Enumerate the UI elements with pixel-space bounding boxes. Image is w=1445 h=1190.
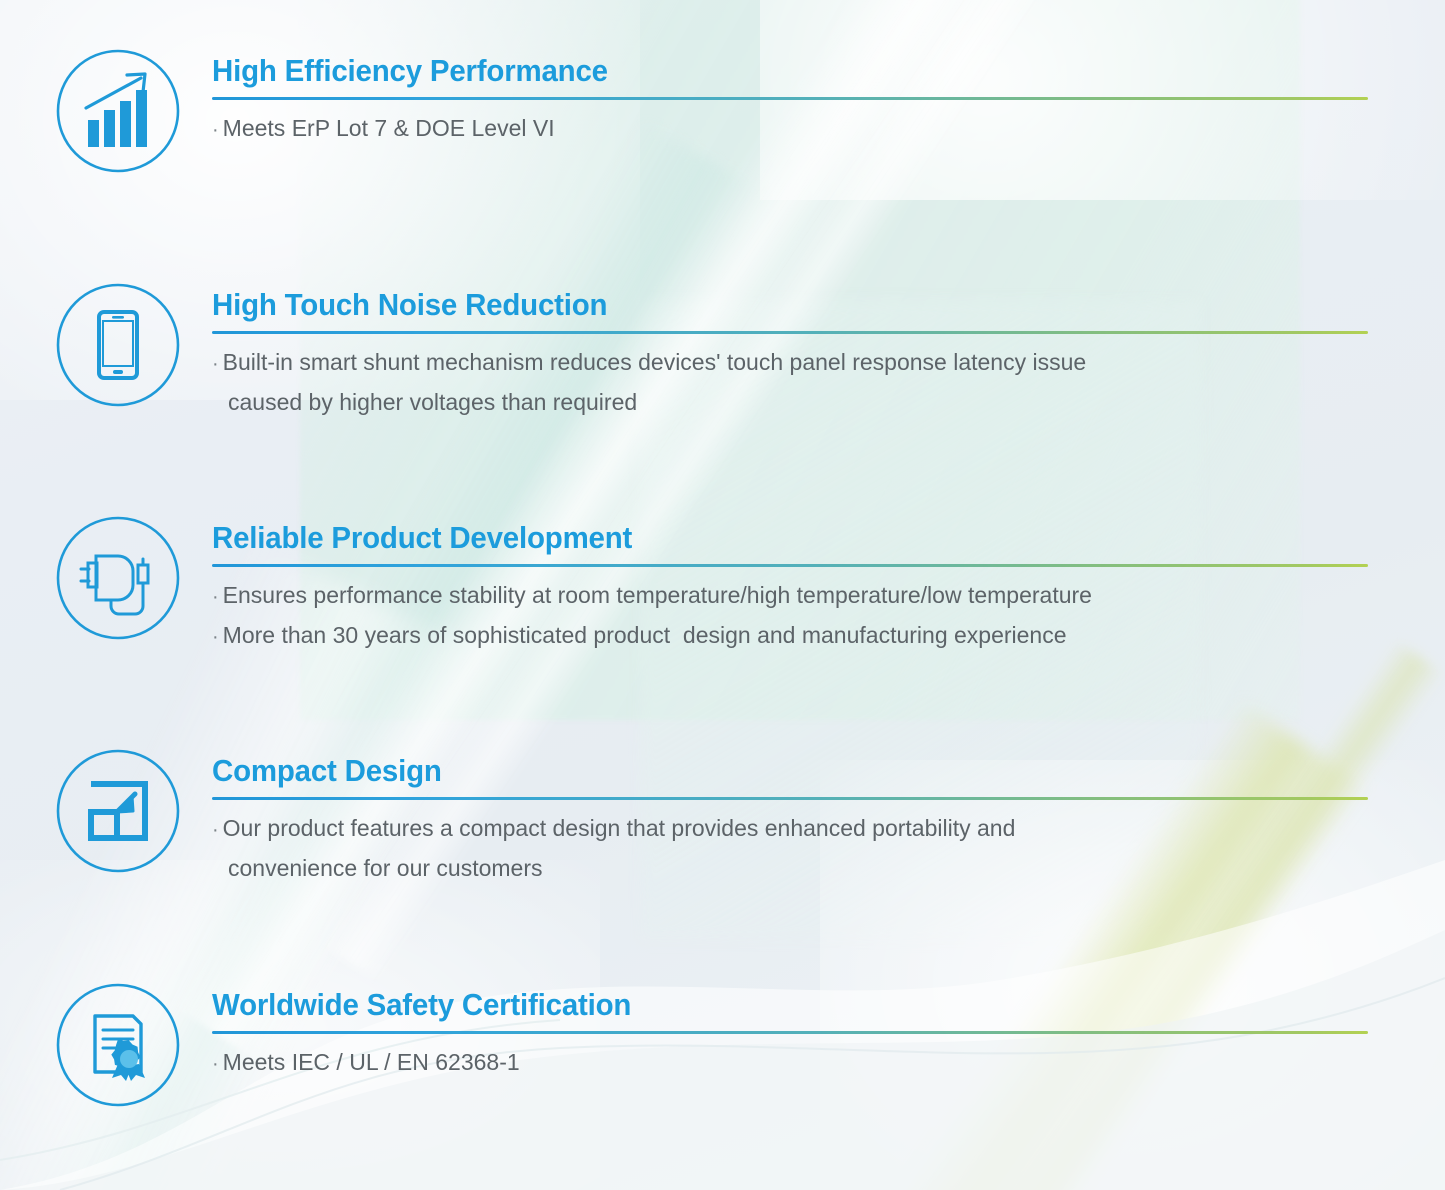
bullet-text: Meets ErP Lot 7 & DOE Level VI <box>223 115 555 141</box>
bullet-line: ·Meets ErP Lot 7 & DOE Level VI <box>212 109 1370 149</box>
power-adapter-icon <box>55 515 181 641</box>
feature-bullets: ·Ensures performance stability at room t… <box>212 576 1370 656</box>
bullet-text: caused by higher voltages than required <box>228 389 637 415</box>
bullet-text: convenience for our customers <box>228 855 543 881</box>
bullet-line: ·Built-in smart shunt mechanism reduces … <box>212 343 1370 383</box>
bullet-marker: · <box>212 353 219 375</box>
bullet-line-continued: caused by higher voltages than required <box>212 383 1370 421</box>
bullet-marker: · <box>212 819 219 841</box>
feature-bullets: ·Meets IEC / UL / EN 62368-1 <box>212 1043 1370 1083</box>
feature-highlights-page: High Efficiency Performance ·Meets ErP L… <box>0 0 1445 1190</box>
bullet-line: ·More than 30 years of sophisticated pro… <box>212 616 1370 656</box>
feature-divider <box>212 797 1368 800</box>
bullet-marker: · <box>212 119 219 141</box>
feature-divider <box>212 1031 1368 1034</box>
bullet-line: ·Our product features a compact design t… <box>212 809 1370 849</box>
compact-resize-icon <box>55 748 181 874</box>
feature-title: Reliable Product Development <box>212 519 1312 557</box>
bullet-text: Meets IEC / UL / EN 62368-1 <box>223 1049 520 1075</box>
bullet-text: Our product features a compact design th… <box>223 815 1016 841</box>
bar-chart-growth-icon <box>55 48 181 174</box>
certificate-award-icon <box>55 982 181 1108</box>
bullet-line: ·Ensures performance stability at room t… <box>212 576 1370 616</box>
feature-divider <box>212 564 1368 567</box>
smartphone-icon <box>55 282 181 408</box>
feature-title: Worldwide Safety Certification <box>212 986 1312 1024</box>
bullet-text: More than 30 years of sophisticated prod… <box>223 622 1067 648</box>
feature-bullets: ·Meets ErP Lot 7 & DOE Level VI <box>212 109 1370 149</box>
bullet-marker: · <box>212 1053 219 1075</box>
feature-bullets: ·Our product features a compact design t… <box>212 809 1370 887</box>
feature-title: High Efficiency Performance <box>212 52 1312 90</box>
bullet-text: Built-in smart shunt mechanism reduces d… <box>223 349 1087 375</box>
feature-title: High Touch Noise Reduction <box>212 286 1312 324</box>
bullet-text: Ensures performance stability at room te… <box>223 582 1092 608</box>
feature-bullets: ·Built-in smart shunt mechanism reduces … <box>212 343 1370 421</box>
bullet-line-continued: convenience for our customers <box>212 849 1370 887</box>
feature-divider <box>212 97 1368 100</box>
bullet-line: ·Meets IEC / UL / EN 62368-1 <box>212 1043 1370 1083</box>
feature-title: Compact Design <box>212 752 1312 790</box>
feature-divider <box>212 331 1368 334</box>
bullet-marker: · <box>212 626 219 648</box>
bullet-marker: · <box>212 586 219 608</box>
